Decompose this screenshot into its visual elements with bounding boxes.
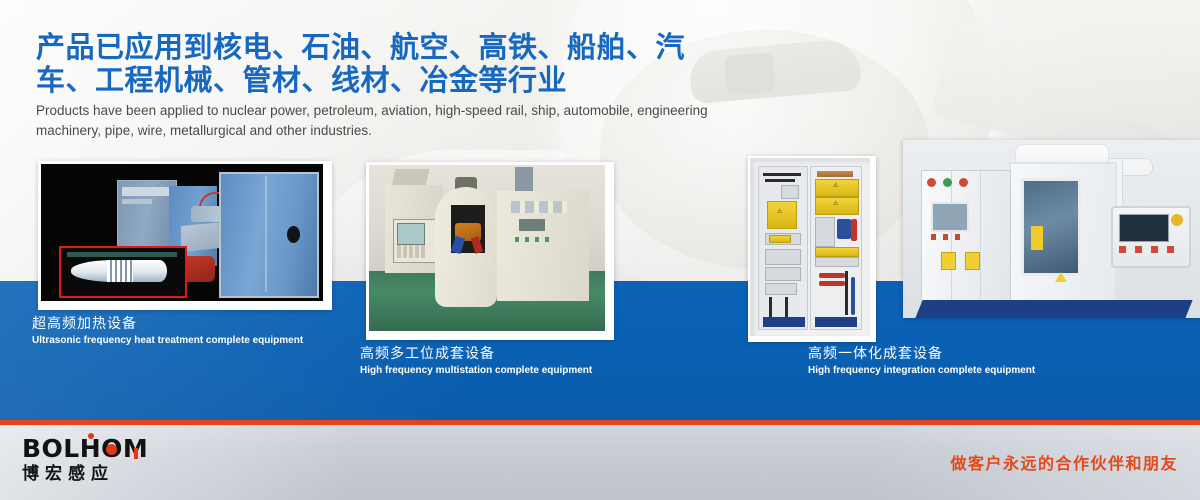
logo-name-cn: 博宏感应: [22, 463, 150, 485]
product-photo-card-2: [366, 162, 614, 340]
product-photo-card-3: ⚠ ⚠ ⚠: [748, 156, 876, 342]
company-logo: BOLHOM 博宏感应: [22, 436, 150, 488]
caption-product-3: 高频一体化成套设备 High frequency integration com…: [808, 344, 1035, 378]
caption-1-title-en: Ultrasonic frequency heat treatment comp…: [32, 334, 303, 348]
caption-2-title-cn: 高频多工位成套设备: [360, 344, 592, 362]
product-image-multistation: [369, 165, 605, 331]
caption-1-title-cn: 超高频加热设备: [32, 314, 303, 332]
caption-product-1: 超高频加热设备 Ultrasonic frequency heat treatm…: [32, 314, 303, 348]
inset-highlight-box: [59, 246, 187, 298]
headline-english: Products have been applied to nuclear po…: [36, 101, 726, 140]
product-photo-card-4: [903, 140, 1200, 318]
product-image-integration: [903, 140, 1200, 318]
product-image-cabinet: ⚠ ⚠ ⚠: [750, 158, 870, 336]
caption-product-2: 高频多工位成套设备 High frequency multistation co…: [360, 344, 592, 378]
footer-slogan: 做客户永远的合作伙伴和朋友: [950, 450, 1178, 474]
promo-banner: 产品已应用到核电、石油、航空、高铁、船舶、汽车、工程机械、管材、线材、冶金等行业…: [0, 0, 1200, 500]
logo-wordmark: BOLHOM: [22, 436, 150, 462]
logo-m-accent-icon: [134, 448, 138, 459]
logo-dot-icon: [88, 433, 94, 439]
product-photo-card-1: [38, 161, 332, 310]
headline-chinese: 产品已应用到核电、石油、航空、高铁、船舶、汽车、工程机械、管材、线材、冶金等行业: [36, 32, 736, 98]
caption-3-title-en: High frequency integration complete equi…: [808, 364, 1035, 378]
logo-o-red-icon: [106, 444, 117, 455]
caption-3-title-cn: 高频一体化成套设备: [808, 344, 1035, 362]
product-image-ultrasonic: [41, 164, 323, 301]
caption-2-title-en: High frequency multistation complete equ…: [360, 364, 592, 378]
